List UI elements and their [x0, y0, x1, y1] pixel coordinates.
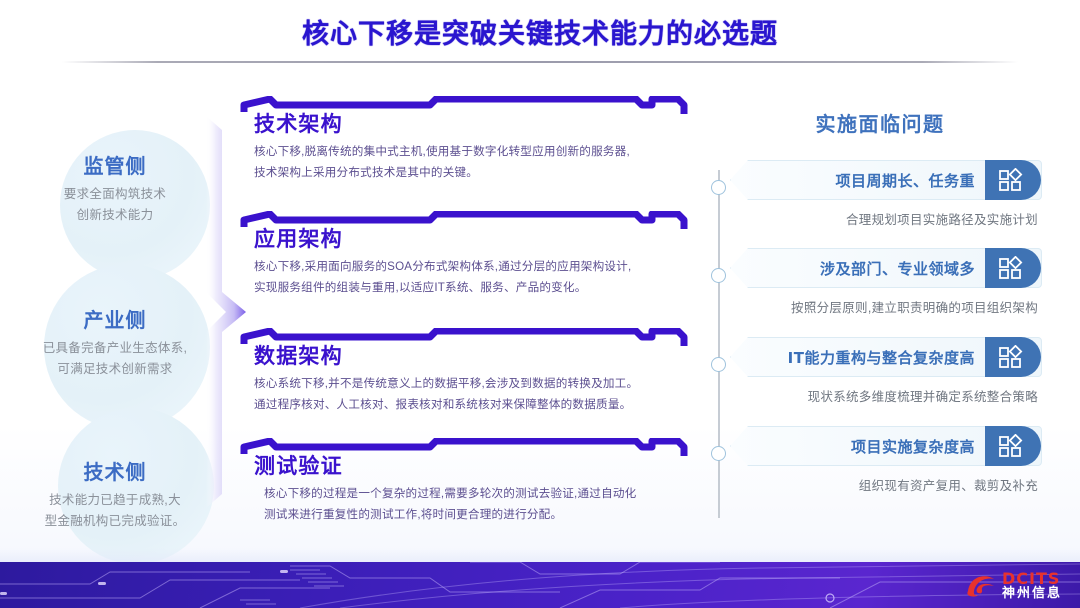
left-item-heading: 产业侧 — [2, 304, 228, 333]
card-body-line2: 实现服务组件的组装与重用,以适应IT系统、服务、产品的变化。 — [254, 277, 680, 298]
left-item-heading: 监管侧 — [2, 150, 228, 179]
issue-subtext: 组织现有资产复用、裁剪及补充 — [730, 475, 1042, 494]
left-item-desc-line2: 可满足技术创新需求 — [2, 359, 228, 380]
left-item-industry: 产业侧 已具备完备产业生态体系, 可满足技术创新需求 — [2, 304, 228, 380]
slide-canvas: 核心下移是突破关键技术能力的必选题 监管侧 要求全面构筑技术 创新技术能力 产业… — [0, 0, 1080, 608]
card-body-line2: 通过程序核对、人工核对、报表核对和系统核对来保障整体的数据质量。 — [254, 394, 680, 415]
card-body: 核心下移的过程是一个复杂的过程,需要多轮次的测试去验证,通过自动化 测试来进行重… — [264, 483, 680, 525]
right-column-title: 实施面临问题 — [700, 108, 1060, 137]
card-body-line2: 技术架构上采用分布式技术是其中的关键。 — [254, 162, 680, 183]
issue-pill[interactable]: 涉及部门、专业领域多 — [730, 248, 1042, 288]
card-body: 核心下移,脱离传统的集中式主机,使用基于数字化转型应用创新的服务器, 技术架构上… — [254, 141, 680, 183]
card-body: 核心系统下移,并不是传统意义上的数据平移,会涉及到数据的转换及加工。 通过程序核… — [254, 373, 680, 415]
issue-label: 项目实施复杂度高 — [731, 436, 985, 457]
card-heading: 应用架构 — [254, 223, 343, 253]
issue-label: 涉及部门、专业领域多 — [731, 258, 985, 279]
issue-item[interactable]: 涉及部门、专业领域多 按照分层原则,建立职责明确的项目组织架构 — [730, 248, 1042, 316]
logo-text-block: DCITS 神州信息 — [1002, 570, 1062, 601]
timeline-dot — [711, 446, 726, 461]
timeline-dot — [711, 268, 726, 283]
footer-band — [0, 562, 1080, 608]
left-item-desc-line1: 要求全面构筑技术 — [2, 184, 228, 205]
card-heading: 技术架构 — [254, 108, 343, 138]
issue-pill[interactable]: 项目实施复杂度高 — [730, 426, 1042, 466]
left-item-desc-line2: 创新技术能力 — [2, 205, 228, 226]
issue-label: IT能力重构与整合复杂度高 — [731, 347, 985, 368]
logo-cn: 神州信息 — [1002, 587, 1062, 601]
grid-diamond-icon — [985, 426, 1041, 466]
issue-subtext: 合理规划项目实施路径及实施计划 — [730, 209, 1042, 228]
card-body: 核心下移,采用面向服务的SOA分布式架构体系,通过分层的应用架构设计, 实现服务… — [254, 256, 680, 298]
brand-logo: DCITS 神州信息 — [964, 568, 1062, 602]
card-tech-architecture[interactable]: 技术架构 核心下移,脱离传统的集中式主机,使用基于数字化转型应用创新的服务器, … — [240, 96, 688, 202]
issue-pill[interactable]: 项目周期长、任务重 — [730, 160, 1042, 200]
card-body-line1: 核心下移,采用面向服务的SOA分布式架构体系,通过分层的应用架构设计, — [254, 256, 680, 277]
left-item-desc-line1: 技术能力已趋于成熟,大 — [2, 490, 228, 511]
right-column: 实施面临问题 项目周期长、任务重 合理规划项目实施路径及实施计划 — [700, 96, 1060, 546]
page-title-wrap: 核心下移是突破关键技术能力的必选题 — [0, 12, 1080, 51]
left-item-heading: 技术侧 — [2, 456, 228, 485]
card-heading: 测试验证 — [254, 450, 343, 480]
logo-en: DCITS — [1002, 570, 1062, 587]
card-heading: 数据架构 — [254, 340, 343, 370]
architecture-card-list: 技术架构 核心下移,脱离传统的集中式主机,使用基于数字化转型应用创新的服务器, … — [240, 96, 690, 546]
grid-diamond-icon — [985, 160, 1041, 200]
issue-pill[interactable]: IT能力重构与整合复杂度高 — [730, 337, 1042, 377]
left-item-technology: 技术侧 技术能力已趋于成熟,大 型金融机构已完成验证。 — [2, 456, 228, 532]
dcits-swoosh-icon — [964, 571, 998, 599]
issue-label: 项目周期长、任务重 — [731, 170, 985, 191]
page-title: 核心下移是突破关键技术能力的必选题 — [0, 12, 1080, 51]
left-item-desc-line2: 型金融机构已完成验证。 — [2, 511, 228, 532]
issue-item[interactable]: IT能力重构与整合复杂度高 现状系统多维度梳理并确定系统整合策略 — [730, 337, 1042, 405]
card-body-line1: 核心系统下移,并不是传统意义上的数据平移,会涉及到数据的转换及加工。 — [254, 373, 680, 394]
timeline-line — [718, 170, 720, 518]
circuit-pattern-icon — [0, 562, 1080, 608]
card-test-verification[interactable]: 测试验证 核心下移的过程是一个复杂的过程,需要多轮次的测试去验证,通过自动化 测… — [240, 438, 688, 548]
card-data-architecture[interactable]: 数据架构 核心系统下移,并不是传统意义上的数据平移,会涉及到数据的转换及加工。 … — [240, 328, 688, 434]
card-body-line1: 核心下移的过程是一个复杂的过程,需要多轮次的测试去验证,通过自动化 — [264, 483, 680, 504]
issue-item[interactable]: 项目周期长、任务重 合理规划项目实施路径及实施计划 — [730, 160, 1042, 228]
issue-subtext: 按照分层原则,建立职责明确的项目组织架构 — [730, 297, 1042, 316]
card-body-line1: 核心下移,脱离传统的集中式主机,使用基于数字化转型应用创新的服务器, — [254, 141, 680, 162]
card-application-architecture[interactable]: 应用架构 核心下移,采用面向服务的SOA分布式架构体系,通过分层的应用架构设计,… — [240, 211, 688, 317]
grid-diamond-icon — [985, 337, 1041, 377]
card-body-line2: 测试来进行重复性的测试工作,将时间更合理的进行分配。 — [264, 504, 680, 525]
timeline-dot — [711, 180, 726, 195]
left-item-regulator: 监管侧 要求全面构筑技术 创新技术能力 — [2, 150, 228, 226]
left-item-desc-line1: 已具备完备产业生态体系, — [2, 338, 228, 359]
timeline-dot — [711, 357, 726, 372]
issue-item[interactable]: 项目实施复杂度高 组织现有资产复用、裁剪及补充 — [730, 426, 1042, 494]
grid-diamond-icon — [985, 248, 1041, 288]
title-divider — [62, 61, 1018, 63]
issue-subtext: 现状系统多维度梳理并确定系统整合策略 — [730, 386, 1042, 405]
